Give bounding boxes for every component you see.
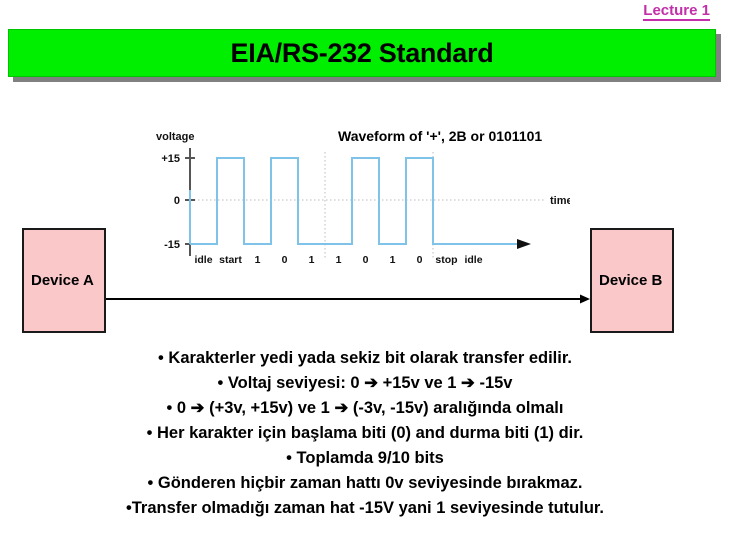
y-tick-label: 0 [174, 195, 180, 207]
device-connection-arrow [106, 294, 590, 304]
bullet-list: • Karakterler yedi yada sekiz bit olarak… [0, 346, 730, 521]
waveform-caption: Waveform of '+', 2B or 0101101 [338, 128, 542, 144]
page-title: EIA/RS-232 Standard [231, 38, 494, 69]
waveform-segment-label: 0 [363, 254, 369, 266]
device-a-box: Device A [22, 228, 106, 333]
bullet-item: • Karakterler yedi yada sekiz bit olarak… [0, 346, 730, 371]
waveform-segment-label: idle [194, 254, 212, 266]
waveform-segment-label: 1 [336, 254, 342, 266]
waveform-plot: +150-15voltagetimeidlestart1011010stopid… [150, 120, 570, 280]
bullet-item: • Toplamda 9/10 bits [0, 446, 730, 471]
waveform-segment-label: 0 [282, 254, 288, 266]
device-b-box: Device B [590, 228, 674, 333]
lecture-label: Lecture 1 [643, 2, 710, 21]
bullet-item: •Transfer olmadığı zaman hat -15V yani 1… [0, 496, 730, 521]
waveform-segment-label: 1 [309, 254, 315, 266]
device-a-label: Device A [24, 272, 94, 289]
bullet-item: • Her karakter için başlama biti (0) and… [0, 421, 730, 446]
title-banner: EIA/RS-232 Standard [8, 29, 716, 77]
waveform-segment-label: start [219, 254, 242, 266]
waveform-segment-label: 1 [255, 254, 261, 266]
waveform-segment-label: stop [435, 254, 457, 266]
waveform-figure: Waveform of '+', 2B or 0101101 +150-15vo… [150, 120, 570, 280]
waveform-segment-label: 0 [417, 254, 423, 266]
y-axis-title: voltage [156, 131, 195, 143]
waveform-segment-label: idle [464, 254, 482, 266]
waveform-segment-label: 1 [390, 254, 396, 266]
y-tick-label: -15 [164, 239, 180, 251]
bullet-item: • 0 ➔ (+3v, +15v) ve 1 ➔ (-3v, -15v) ara… [0, 396, 730, 421]
y-tick-label: +15 [161, 153, 180, 165]
device-b-label: Device B [592, 272, 662, 289]
bullet-item: • Gönderen hiçbir zaman hattı 0v seviyes… [0, 471, 730, 496]
x-axis-title: time [550, 195, 570, 207]
bullet-item: • Voltaj seviyesi: 0 ➔ +15v ve 1 ➔ -15v [0, 371, 730, 396]
